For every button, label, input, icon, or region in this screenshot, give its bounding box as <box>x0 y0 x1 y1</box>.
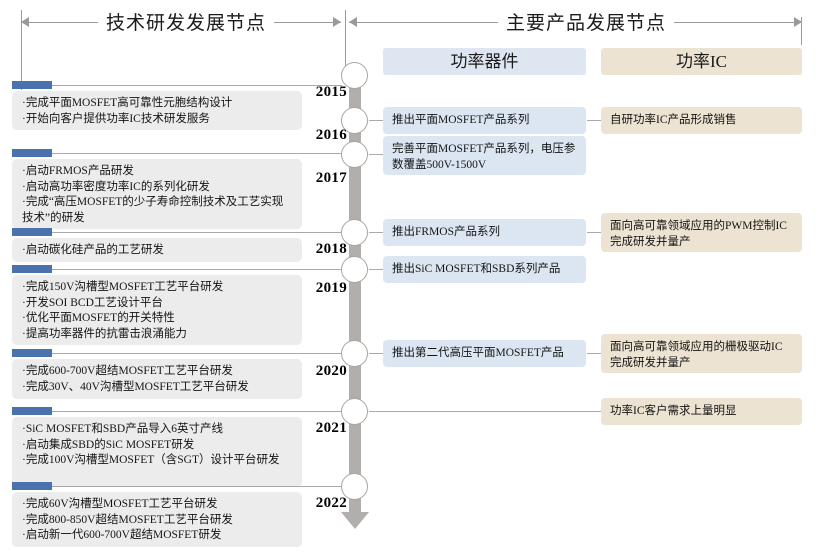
connector-device-to-ic-2 <box>587 232 601 233</box>
connector-right-2016 <box>369 120 383 121</box>
tech-line: ·优化平面MOSFET的开关特性 <box>22 311 294 327</box>
connector-left-2018 <box>52 232 342 233</box>
tech-box-2021: ·SiC MOSFET和SBD产品导入6英寸产线 ·启动集成SBD的SiC MO… <box>12 417 302 487</box>
connector-left-2015 <box>52 85 342 86</box>
accent-bar-2015 <box>12 81 52 89</box>
left-boundary-rule <box>21 10 22 90</box>
tech-line: ·启动集成SBD的SiC MOSFET研发 <box>22 438 294 454</box>
tech-line: ·完成800-850V超结MOSFET工艺平台研发 <box>22 513 294 529</box>
left-arrow-head-right-icon <box>333 17 341 27</box>
year-label-2016: 2016 <box>303 127 347 144</box>
connector-right-2018 <box>369 232 383 233</box>
year-label-2019: 2019 <box>303 280 347 297</box>
tech-line: ·完成“高压MOSFET的少子寿命控制技术及工艺实现技术”的研发 <box>22 195 294 226</box>
tech-box-2019: ·完成150V沟槽型MOSFET工艺平台研发 ·开发SOI BCD工艺设计平台 … <box>12 275 302 345</box>
connector-left-2019 <box>52 269 342 270</box>
tech-line: ·完成100V沟槽型MOSFET（含SGT）设计平台研发 <box>22 453 294 469</box>
product-ic-box-3: 面向高可靠领域应用的栅极驱动IC完成研发并量产 <box>601 334 802 373</box>
year-label-2018: 2018 <box>303 241 347 258</box>
connector-left-2021 <box>52 411 342 412</box>
accent-bar-2018 <box>12 228 52 236</box>
connector-left-2017 <box>52 153 342 154</box>
accent-bar-2019 <box>12 265 52 273</box>
header-arrows: 技术研发发展节点 主要产品发展节点 <box>0 0 816 46</box>
column-banner-power-device: 功率器件 <box>383 48 586 75</box>
product-device-box-4: 推出SiC MOSFET和SBD系列产品 <box>383 256 586 283</box>
tech-line: ·完成150V沟槽型MOSFET工艺平台研发 <box>22 280 294 296</box>
product-ic-box-4: 功率IC客户需求上量明显 <box>601 398 802 425</box>
connector-right-2017 <box>369 154 383 155</box>
tech-box-2022: ·完成60V沟槽型MOSFET工艺平台研发 ·完成800-850V超结MOSFE… <box>12 492 302 547</box>
tech-line: ·完成平面MOSFET高可靠性元胞结构设计 <box>22 96 294 112</box>
connector-right-2020 <box>369 353 383 354</box>
accent-bar-2021 <box>12 407 52 415</box>
tech-line: ·启动FRMOS产品研发 <box>22 164 294 180</box>
year-label-2021: 2021 <box>303 420 347 437</box>
right-arrow-endcap <box>801 17 802 45</box>
connector-device-to-ic-1 <box>587 120 601 121</box>
tech-box-2020: ·完成600-700V超结MOSFET工艺平台研发 ·完成30V、40V沟槽型M… <box>12 359 302 399</box>
timeline-node-2019[interactable] <box>341 256 368 283</box>
timeline-node-2017[interactable] <box>341 141 368 168</box>
tech-line: ·启动高功率密度功率IC的系列化研发 <box>22 180 294 196</box>
year-label-2022: 2022 <box>303 495 347 512</box>
right-section-title: 主要产品发展节点 <box>498 8 674 35</box>
connector-right-2021 <box>369 411 601 412</box>
timeline-arrow-icon <box>341 512 369 529</box>
connector-device-to-ic-3 <box>587 353 601 354</box>
tech-line: ·启动新一代600-700V超结MOSFET研发 <box>22 528 294 544</box>
right-arrow-head-left-icon <box>349 17 357 27</box>
left-arrow-head-icon <box>21 17 29 27</box>
tech-line: ·提高功率器件的抗雷击浪涌能力 <box>22 327 294 343</box>
year-label-2017: 2017 <box>303 170 347 187</box>
tech-line: ·启动碳化硅产品的工艺研发 <box>22 243 294 259</box>
section-divider-tick <box>345 10 346 72</box>
tech-line: ·开始向客户提供功率IC技术研发服务 <box>22 112 294 128</box>
tech-line: ·完成30V、40V沟槽型MOSFET工艺平台研发 <box>22 380 294 396</box>
tech-line: ·完成60V沟槽型MOSFET工艺平台研发 <box>22 497 294 513</box>
connector-right-2019 <box>369 269 383 270</box>
tech-line: ·完成600-700V超结MOSFET工艺平台研发 <box>22 364 294 380</box>
tech-line: ·SiC MOSFET和SBD产品导入6英寸产线 <box>22 422 294 438</box>
timeline-diagram: 技术研发发展节点 主要产品发展节点 功率器件 功率IC 2015 2016 20… <box>0 0 816 554</box>
accent-bar-2020 <box>12 349 52 357</box>
product-device-box-1: 推出平面MOSFET产品系列 <box>383 107 586 134</box>
product-device-box-3: 推出FRMOS产品系列 <box>383 219 586 246</box>
column-banner-power-ic: 功率IC <box>601 48 802 75</box>
connector-left-2022 <box>52 486 342 487</box>
tech-box-2017: ·启动FRMOS产品研发 ·启动高功率密度功率IC的系列化研发 ·完成“高压MO… <box>12 159 302 229</box>
tech-box-2015: ·完成平面MOSFET高可靠性元胞结构设计 ·开始向客户提供功率IC技术研发服务 <box>12 91 302 130</box>
year-label-2020: 2020 <box>303 363 347 380</box>
product-ic-box-2: 面向高可靠领域应用的PWM控制IC完成研发并量产 <box>601 213 802 252</box>
accent-bar-2022 <box>12 482 52 490</box>
product-device-box-5: 推出第二代高压平面MOSFET产品 <box>383 340 586 367</box>
left-section-title: 技术研发发展节点 <box>98 8 274 35</box>
product-device-box-2: 完善平面MOSFET产品系列，电压参数覆盖500V-1500V <box>383 136 586 175</box>
product-ic-box-1: 自研功率IC产品形成销售 <box>601 107 802 134</box>
tech-box-2018: ·启动碳化硅产品的工艺研发 <box>12 238 302 262</box>
accent-bar-2017 <box>12 149 52 157</box>
year-label-2015: 2015 <box>303 84 347 101</box>
connector-left-2020 <box>52 353 342 354</box>
tech-line: ·开发SOI BCD工艺设计平台 <box>22 296 294 312</box>
